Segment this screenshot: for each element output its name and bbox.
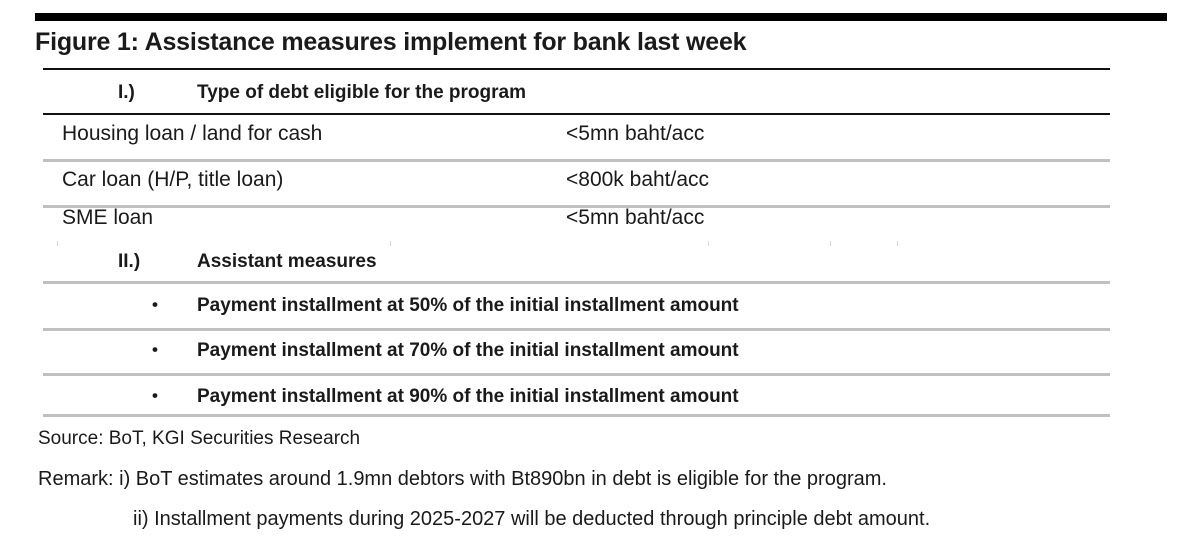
debt-type-label: Housing loan / land for cash [62, 122, 322, 146]
scan-artifact-tick [830, 241, 831, 246]
bullet-icon: • [152, 340, 158, 360]
divider-under-measure-3 [43, 414, 1110, 417]
remark-note-i: Remark: i) BoT estimates around 1.9mn de… [38, 468, 887, 491]
scan-artifact-tick [390, 241, 391, 246]
measure-text: Payment installment at 70% of the initia… [197, 340, 739, 362]
scan-artifact-tick [708, 241, 709, 246]
debt-type-label: Car loan (H/P, title loan) [62, 168, 283, 192]
measure-text: Payment installment at 50% of the initia… [197, 295, 739, 317]
top-heavy-divider [35, 13, 1167, 21]
figure-container: Figure 1: Assistance measures implement … [0, 0, 1200, 559]
source-note: Source: BoT, KGI Securities Research [38, 428, 360, 450]
divider-under-title [43, 68, 1110, 70]
divider-under-housing-row [43, 159, 1110, 162]
debt-limit-value: <5mn baht/acc [566, 122, 704, 146]
debt-limit-value: <5mn baht/acc [566, 206, 704, 230]
divider-under-measure-2 [43, 373, 1110, 376]
divider-under-section-2 [43, 281, 1110, 284]
section-label: Assistant measures [197, 251, 377, 273]
bullet-icon: • [152, 295, 158, 315]
debt-type-label: SME loan [62, 206, 153, 230]
section-label: Type of debt eligible for the program [197, 82, 526, 104]
section-number: II.) [118, 251, 140, 273]
debt-limit-value: <800k baht/acc [566, 168, 709, 192]
figure-title: Figure 1: Assistance measures implement … [35, 28, 746, 57]
scan-artifact-tick [57, 241, 58, 246]
scan-artifact-tick [897, 241, 898, 246]
measure-text: Payment installment at 90% of the initia… [197, 386, 739, 408]
remark-note-ii: ii) Installment payments during 2025-202… [133, 508, 930, 531]
section-number: I.) [118, 82, 135, 104]
divider-under-section-1 [43, 113, 1110, 115]
divider-under-measure-1 [43, 328, 1110, 331]
bullet-icon: • [152, 386, 158, 406]
